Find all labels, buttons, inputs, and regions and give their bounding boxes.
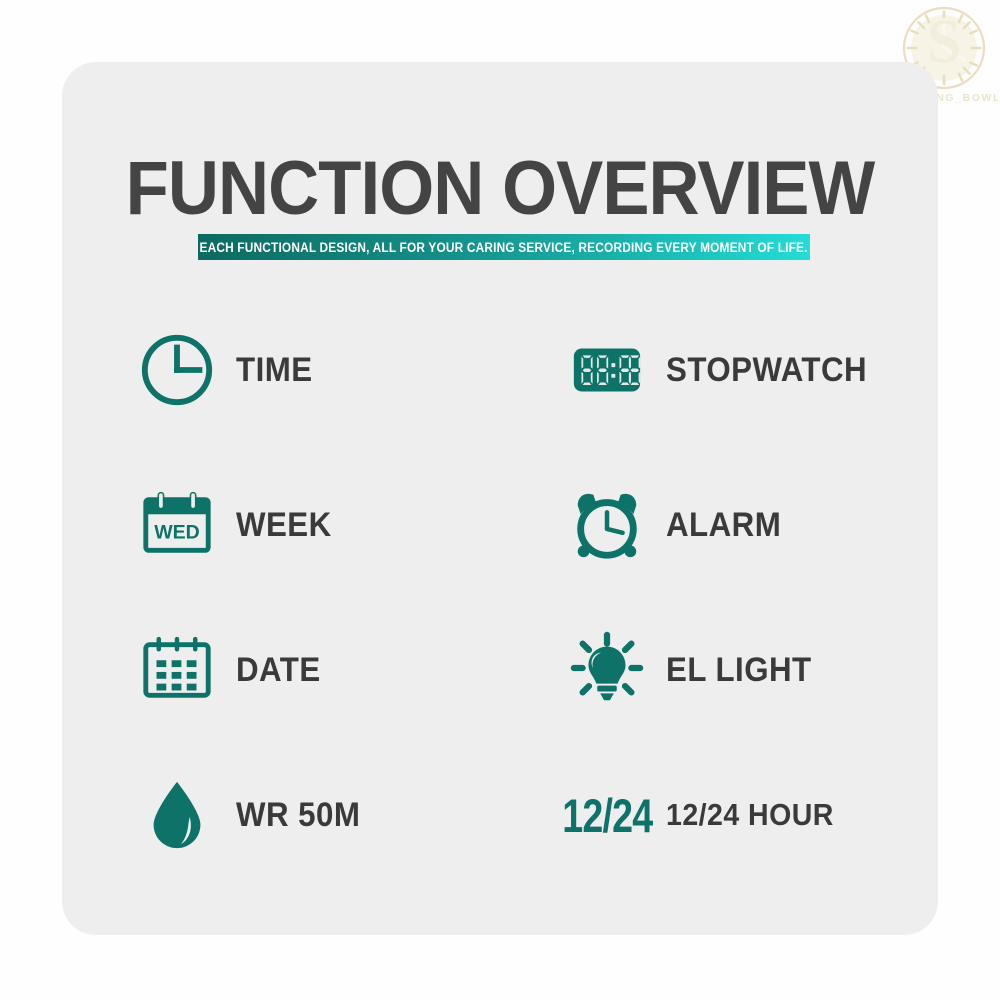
feature-item-water-resistance: WR 50M	[134, 765, 514, 865]
feature-label-water-resistance: WR 50M	[236, 796, 360, 835]
calendar-week-icon: WED	[134, 482, 220, 568]
feature-label-time: TIME	[236, 351, 313, 390]
feature-item-alarm: ALARM	[564, 475, 924, 575]
water-drop-icon	[134, 772, 220, 858]
light-bulb-icon	[564, 627, 650, 713]
feature-label-week: WEEK	[236, 506, 332, 545]
clock-icon	[134, 327, 220, 413]
feature-item-el-light: EL LIGHT	[564, 620, 924, 720]
feature-item-time: TIME	[134, 320, 514, 420]
feature-label-date: DATE	[236, 651, 321, 690]
subtitle-banner: EACH FUNCTIONAL DESIGN, ALL FOR YOUR CAR…	[198, 234, 810, 260]
page-title: FUNCTION OVERVIEW	[93, 150, 908, 228]
watermark-monogram: S	[927, 8, 961, 76]
subtitle-text: EACH FUNCTIONAL DESIGN, ALL FOR YOUR CAR…	[200, 240, 808, 255]
digital-display-icon	[564, 327, 650, 413]
feature-label-hour-format: 12/24 HOUR	[666, 797, 834, 833]
poster-page: S SHOPPING_BOWL FUNCTION OVERVIEW EACH F…	[0, 0, 1000, 1000]
feature-item-stopwatch: STOPWATCH	[564, 320, 924, 420]
feature-label-stopwatch: STOPWATCH	[666, 351, 867, 390]
feature-item-week: WED WEEK	[134, 475, 514, 575]
feature-card: FUNCTION OVERVIEW EACH FUNCTIONAL DESIGN…	[62, 62, 938, 935]
hour-format-badge-text: 12/24	[562, 788, 652, 843]
feature-label-el-light: EL LIGHT	[666, 651, 812, 690]
calendar-week-badge-text: WED	[154, 522, 200, 544]
feature-grid: TIME WED WEEK	[62, 320, 938, 890]
feature-label-alarm: ALARM	[666, 506, 781, 545]
hour-format-icon: 12/24	[564, 772, 650, 858]
calendar-date-icon	[134, 627, 220, 713]
feature-item-date: DATE	[134, 620, 514, 720]
feature-item-hour-format: 12/24 12/24 HOUR	[564, 765, 924, 865]
alarm-clock-icon	[564, 482, 650, 568]
